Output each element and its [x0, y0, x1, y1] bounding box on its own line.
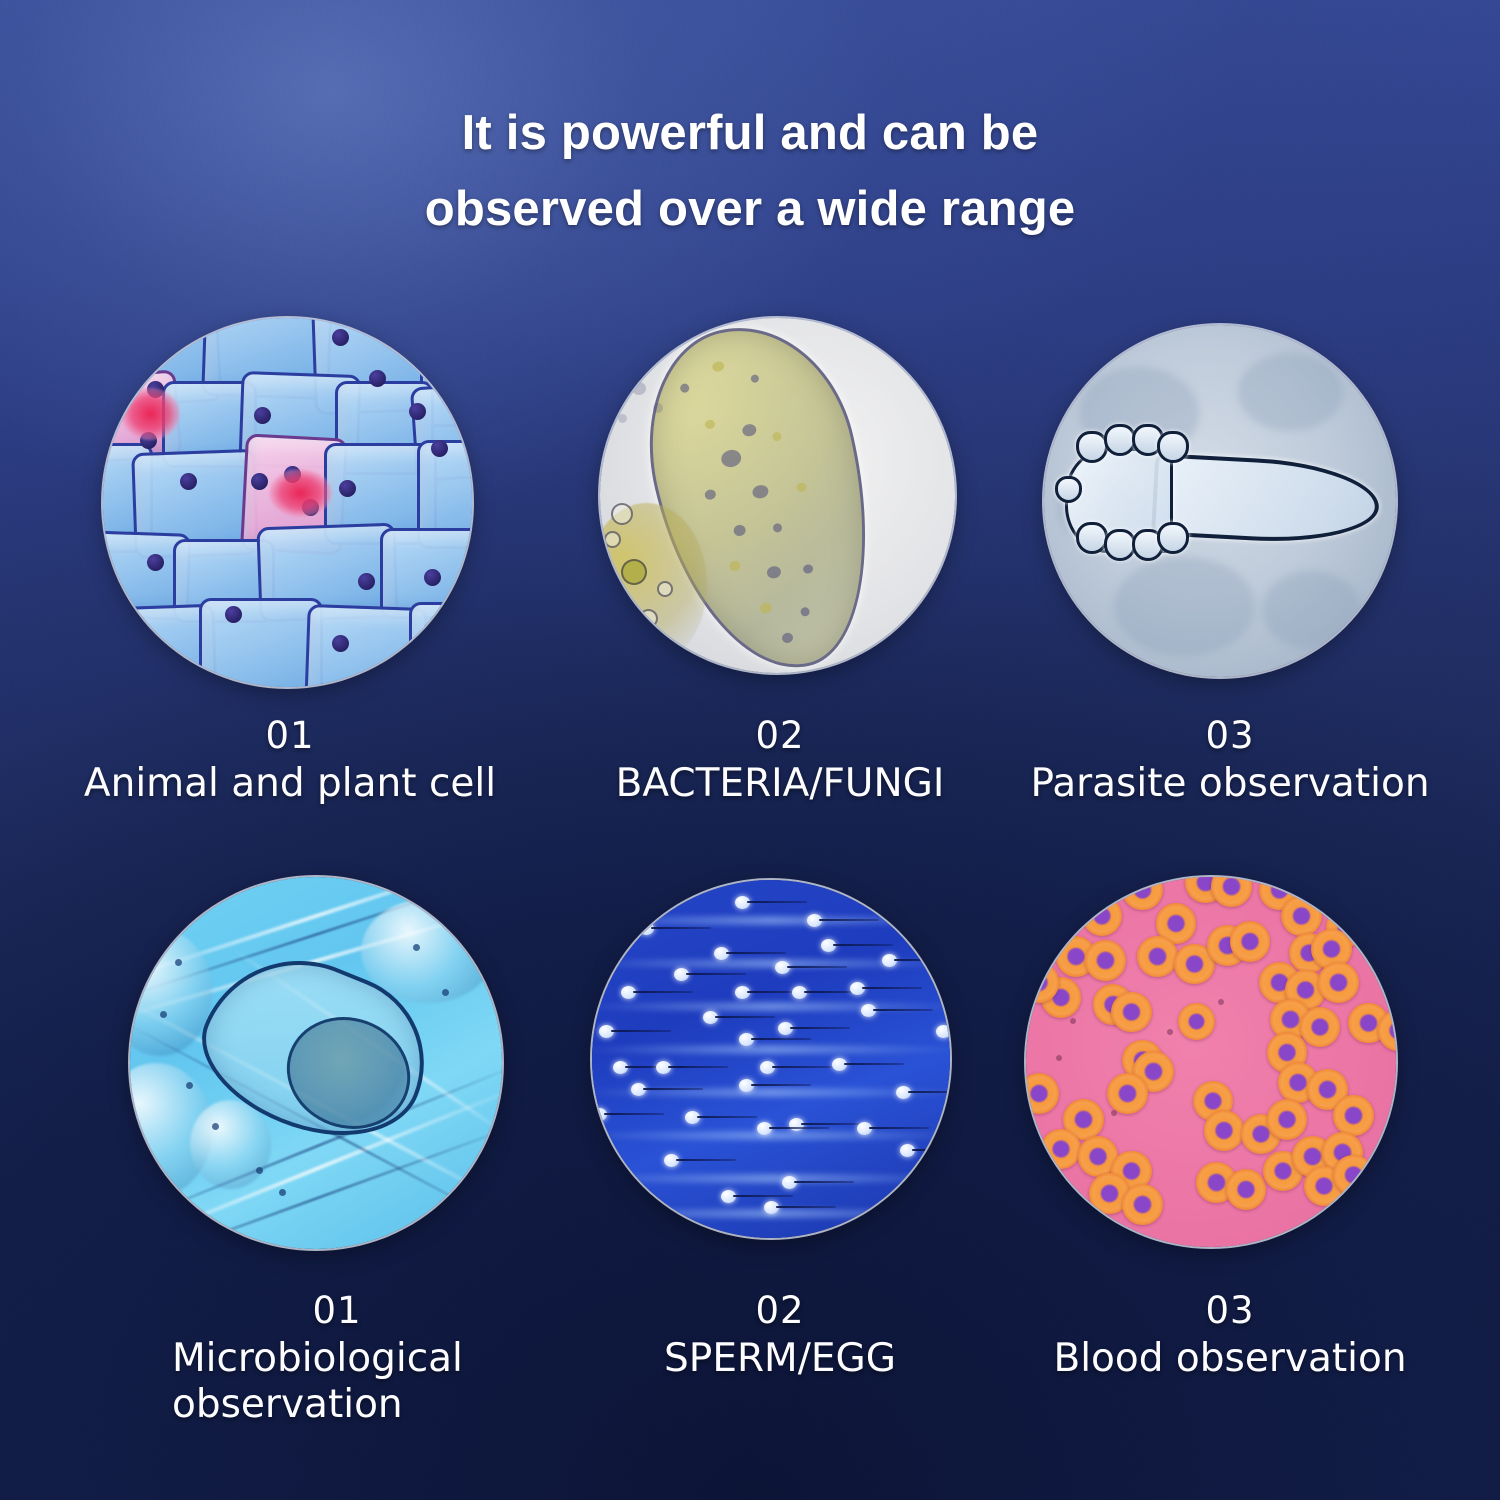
feature-caption-5: 02 SPERM/EGG — [590, 1290, 970, 1382]
feature-number-3: 03 — [1020, 715, 1440, 758]
feature-number-1: 01 — [60, 715, 520, 758]
feature-caption-2: 02 BACTERIA/FUNGI — [590, 715, 970, 807]
feature-number-5: 02 — [590, 1290, 970, 1333]
blood-cells-micrograph — [1026, 877, 1396, 1247]
feature-caption-3: 03 Parasite observation — [1020, 715, 1440, 807]
feature-title-6: Blood observation — [1020, 1336, 1440, 1383]
plant-cell-micrograph — [103, 318, 472, 687]
paramecium-scene — [600, 318, 955, 673]
demodex-parasite-micrograph — [1044, 325, 1396, 677]
page-title-line-1: It is powerful and can be — [0, 96, 1500, 172]
feature-title-3: Parasite observation — [1020, 761, 1440, 808]
sperm-scene — [592, 880, 950, 1238]
feature-number-2: 02 — [590, 715, 970, 758]
rotifer-micrograph — [130, 877, 502, 1249]
feature-caption-6: 03 Blood observation — [1020, 1290, 1440, 1382]
feature-title-1: Animal and plant cell — [60, 761, 520, 808]
page-title-line-2: observed over a wide range — [0, 172, 1500, 248]
parasite-scene — [1044, 325, 1396, 677]
feature-title-2: BACTERIA/FUNGI — [590, 761, 970, 808]
feature-title-4: Microbiological observation — [172, 1336, 502, 1430]
feature-caption-4: 01 Microbiological observation — [172, 1290, 502, 1429]
page-title: It is powerful and can be observed over … — [0, 96, 1500, 248]
paramecium-micrograph — [600, 318, 955, 673]
poster-root: It is powerful and can be observed over … — [0, 0, 1500, 1500]
feature-number-4: 01 — [172, 1290, 502, 1333]
feature-number-6: 03 — [1020, 1290, 1440, 1333]
feature-caption-1: 01 Animal and plant cell — [60, 715, 520, 807]
sperm-micrograph — [592, 880, 950, 1238]
microbiology-scene — [130, 877, 502, 1249]
plant-cell-scene — [103, 318, 472, 687]
feature-title-5: SPERM/EGG — [590, 1336, 970, 1383]
blood-scene — [1026, 877, 1396, 1247]
